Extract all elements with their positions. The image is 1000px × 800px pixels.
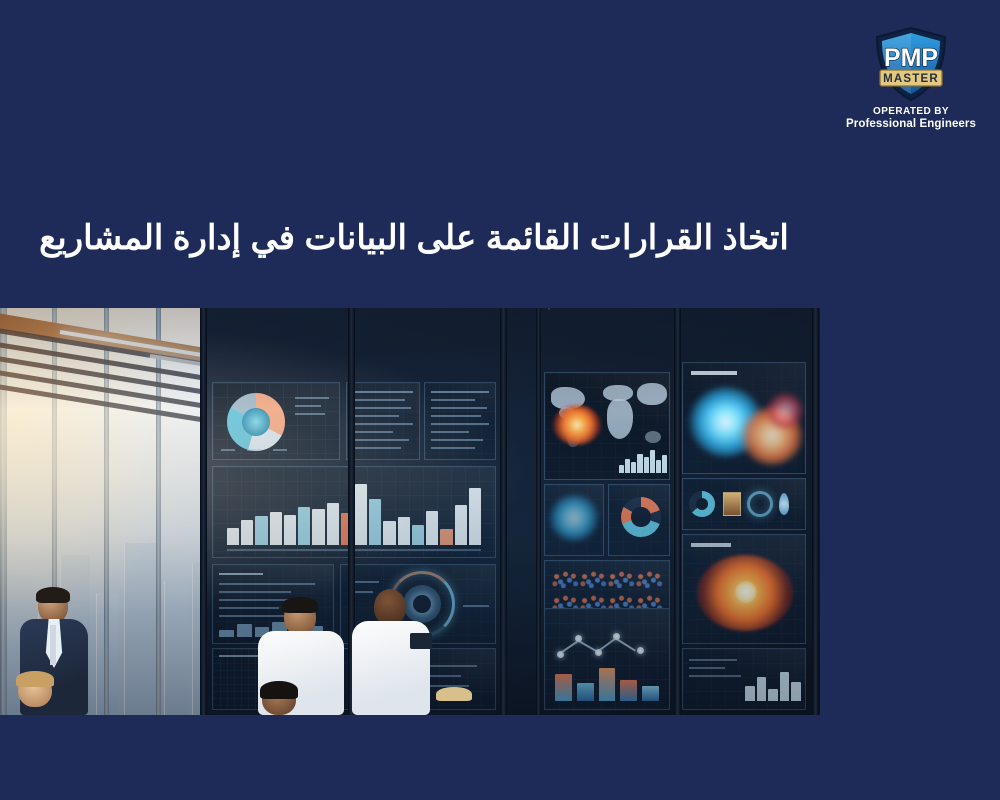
head — [374, 589, 406, 625]
dashboard-donut-kpi — [212, 382, 340, 460]
dashboard-ring-chart — [608, 484, 670, 556]
person-seated-blond — [6, 673, 68, 715]
svg-text:PMP: PMP — [884, 44, 938, 72]
dashboard-icon-row — [682, 478, 806, 530]
pmp-master-logo: PMP MASTER OPERATED BY Professional Engi… — [838, 26, 984, 138]
page-title: اتخاذ القرارات القائمة على البيانات في إ… — [8, 216, 820, 262]
donut-chart — [227, 393, 285, 451]
person-seated-dark — [252, 681, 308, 715]
logo-caption: OPERATED BY Professional Engineers — [846, 106, 976, 131]
dashboard-data-table — [346, 382, 420, 460]
person-white-shirt-right — [352, 589, 430, 715]
logo-caption-line1: OPERATED BY — [846, 106, 976, 118]
dashboard-console-strip — [682, 648, 806, 710]
dashboard-nebula-large — [682, 362, 806, 474]
svg-text:MASTER: MASTER — [883, 73, 939, 85]
dashboard-scatter-galaxy — [544, 484, 604, 556]
dashboard-data-table — [424, 382, 496, 460]
map-heat-hotspot — [553, 405, 601, 445]
logo-caption-line2: Professional Engineers — [846, 118, 976, 132]
dashboard-world-map — [544, 372, 670, 480]
person-seated-right — [430, 685, 484, 715]
shield-icon: PMP MASTER — [872, 26, 950, 102]
dashboard-network-graph — [544, 608, 670, 710]
hero-image — [0, 308, 820, 715]
dashboard-supernova — [682, 534, 806, 644]
donut-chart — [621, 497, 661, 537]
slide-canvas: PMP MASTER OPERATED BY Professional Engi… — [0, 0, 1000, 800]
dashboard-nebula-view — [548, 308, 550, 310]
